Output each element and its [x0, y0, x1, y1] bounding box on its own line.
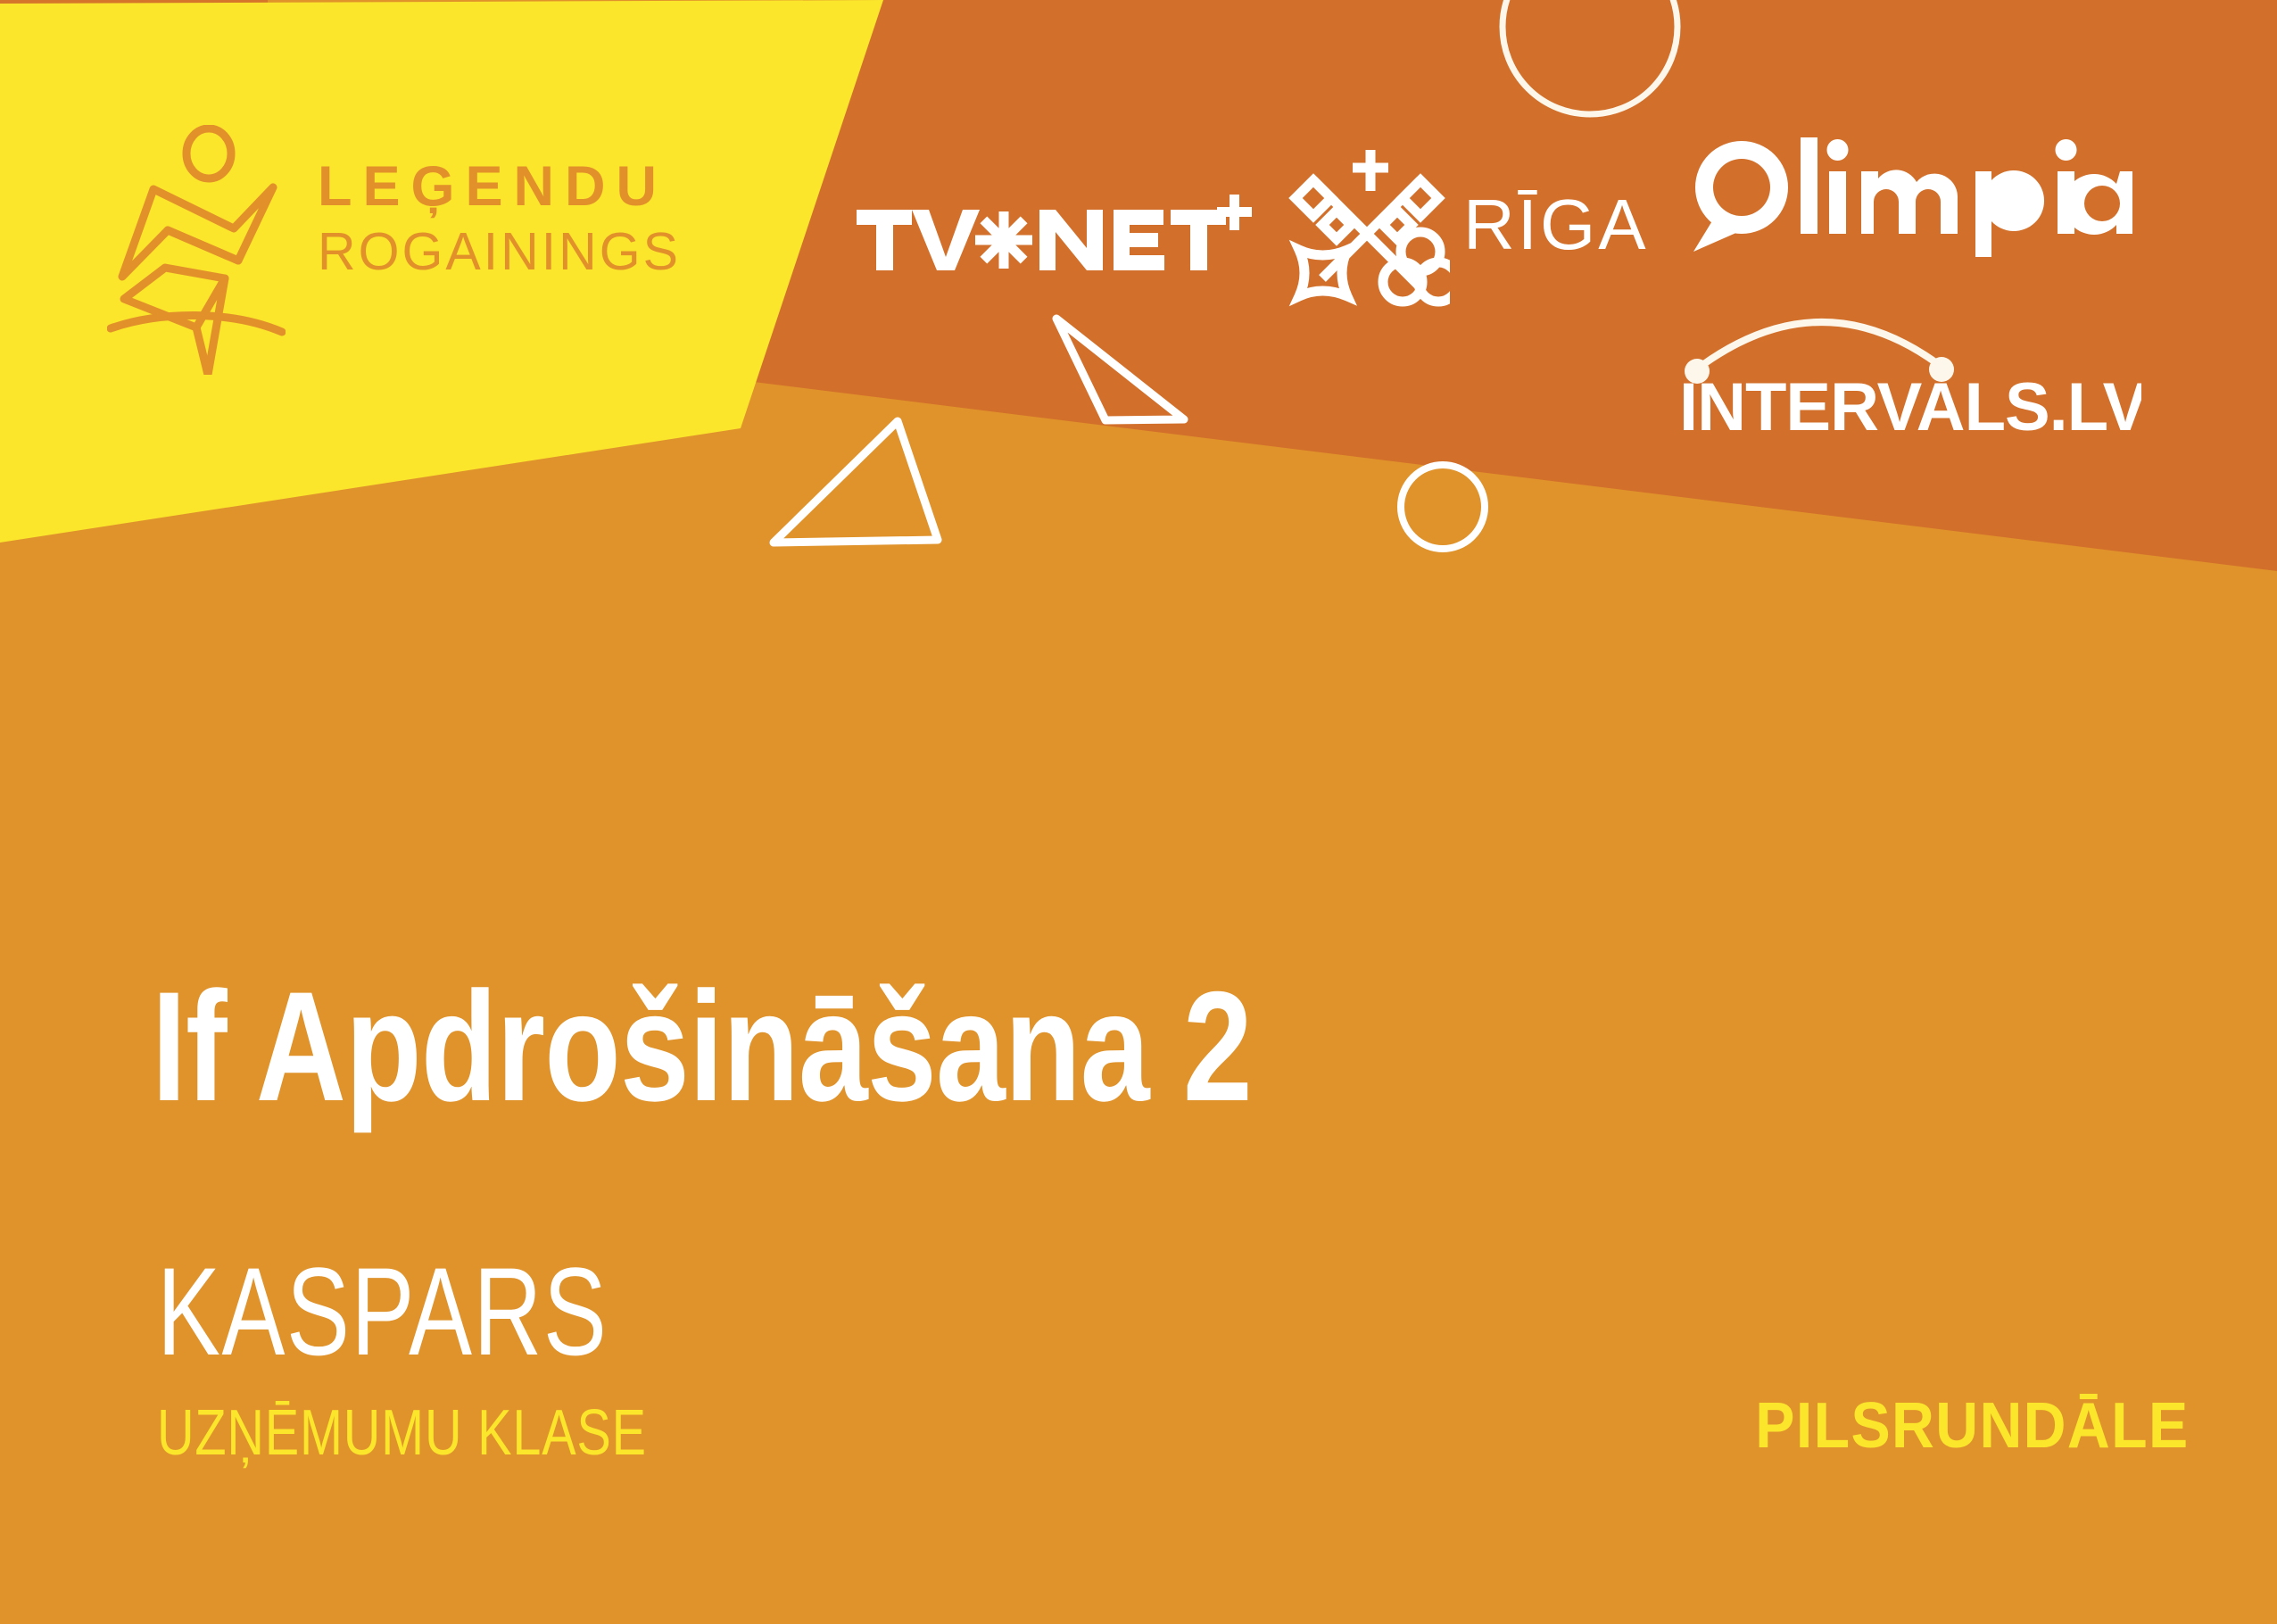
riga-label: RĪGA [1463, 189, 1649, 261]
brand-line-1: LEĢENDU [318, 159, 681, 215]
location-label: PILSRUNDĀLE [1756, 1394, 2190, 1458]
circle-outline-top [1503, 0, 1677, 114]
legendu-rogainings-logo: LEĢENDU ROGAININGS [107, 125, 749, 375]
riga-logo: RĪGA [1285, 143, 1660, 321]
intervals-logo: INTERVALS.LV [1677, 294, 2141, 437]
circle-outline-small [1401, 465, 1485, 549]
class-label: UZŅĒMUMU KLASE [157, 1401, 647, 1465]
brand-line-2: ROGAININGS [318, 226, 681, 278]
intervals-label: INTERVALS.LV [1679, 369, 2141, 437]
headline-title: If Apdrošināšana 2 [152, 969, 1252, 1125]
sponsor-logo-row: RĪGA [839, 134, 2231, 455]
athlete-name: KASPARS [157, 1249, 608, 1374]
running-figure-icon [107, 125, 286, 375]
event-bib-poster: LEĢENDU ROGAININGS [0, 0, 2277, 1624]
olimpia-logo [1686, 134, 2132, 259]
crossed-keys-icon [1285, 143, 1450, 308]
brand-wordmark: LEĢENDU ROGAININGS [318, 159, 681, 278]
tvnet-logo [857, 187, 1258, 286]
